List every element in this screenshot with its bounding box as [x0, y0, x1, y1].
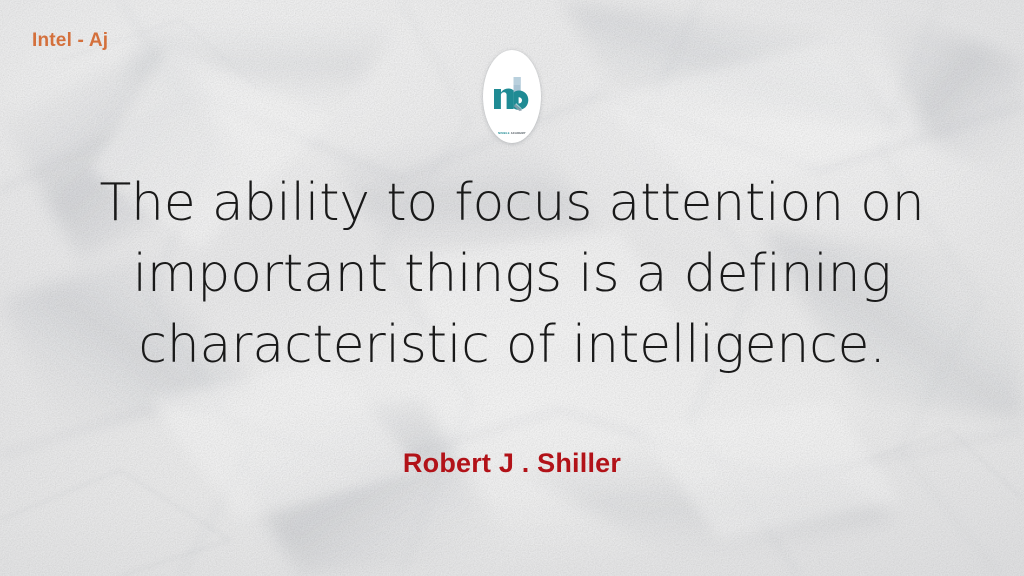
nimble-academy-logo-icon [488, 73, 536, 121]
quote-attribution: Robert J . Shiller [0, 448, 1024, 479]
logo-tagline-part2: ACADEMY [511, 132, 526, 135]
logo-tagline-part1: NIMBLE [498, 132, 510, 135]
logo-tagline: NIMBLE ACADEMY [482, 133, 543, 136]
quote-line-3: characteristic of intelligence. [70, 310, 954, 381]
logo-badge: NIMBLE ACADEMY [483, 50, 541, 143]
quote-text: The ability to focus attention on import… [0, 168, 1024, 381]
quote-line-1: The ability to focus attention on [70, 168, 954, 239]
quote-slide: Intel - Aj NIMBLE ACADEMY The ability to… [0, 0, 1024, 576]
channel-watermark-label: Intel - Aj [32, 30, 108, 52]
quote-line-2: important things is a defining [70, 239, 954, 310]
